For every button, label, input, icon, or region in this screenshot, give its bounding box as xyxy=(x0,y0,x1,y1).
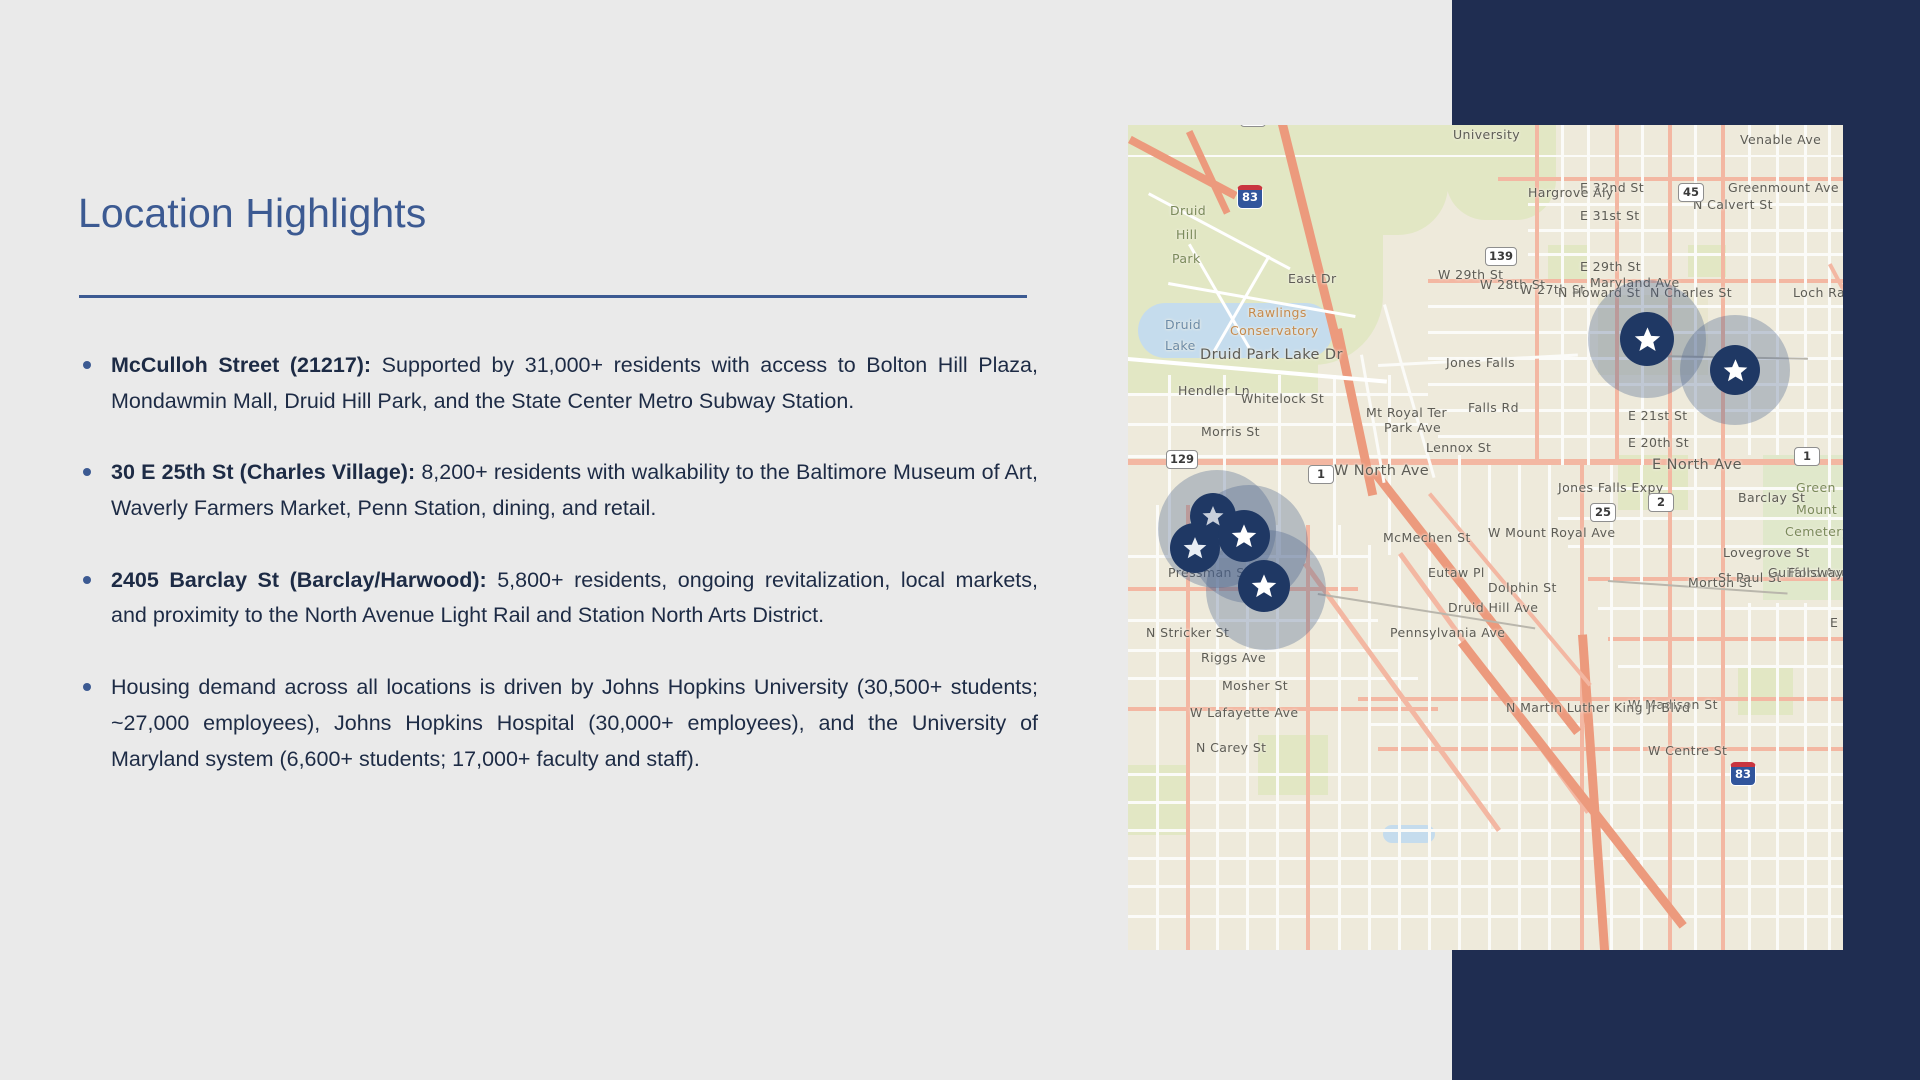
marker-pin-barclay[interactable] xyxy=(1238,560,1290,612)
map-street-label: Rawlings xyxy=(1248,305,1307,320)
map-street-label: Druid xyxy=(1170,203,1206,218)
map-street-label: Eutaw Pl xyxy=(1428,565,1485,580)
map-road xyxy=(1528,203,1843,206)
map-route-shield: 83 xyxy=(1237,185,1263,209)
map-road xyxy=(1368,545,1371,950)
bullet-list: McCulloh Street (21217): Supported by 31… xyxy=(78,348,1038,777)
map-street-label: Loch Raven xyxy=(1793,285,1843,300)
marker-pin-mcculloh-b[interactable] xyxy=(1170,523,1220,573)
map-street-label: Lennox St xyxy=(1426,440,1491,455)
map-road xyxy=(1128,801,1843,804)
map-route-shield: 1 xyxy=(1794,447,1820,466)
map-street-label: Green xyxy=(1796,480,1836,495)
bullet-dot-icon xyxy=(83,468,91,476)
map-street-label: N Calvert St xyxy=(1693,197,1773,212)
map-road xyxy=(1608,637,1843,641)
map-road xyxy=(1398,555,1401,950)
content-column: Location Highlights McCulloh Street (212… xyxy=(78,0,1038,1080)
star-icon xyxy=(1722,357,1749,384)
map-street-label: Lovegrove St xyxy=(1723,545,1810,560)
map-street-label: Park xyxy=(1172,251,1201,266)
bullet-dot-icon xyxy=(83,683,91,691)
map-route-shield: 25 xyxy=(1590,503,1616,522)
map-street-label: Whitelock St xyxy=(1241,391,1324,406)
page-title: Location Highlights xyxy=(78,190,426,237)
map-green-patch-4 xyxy=(1128,765,1190,835)
map-road xyxy=(1128,915,1843,918)
map-street-label: E 31st St xyxy=(1580,208,1640,223)
map-street-label: East Dr xyxy=(1288,271,1337,286)
map-street-label: E 29th St xyxy=(1580,259,1641,274)
map-road xyxy=(1128,829,1843,832)
map-street-label: Riggs Ave xyxy=(1201,650,1266,665)
map-street-label: Dolphin St xyxy=(1488,580,1557,595)
star-icon xyxy=(1230,522,1258,550)
map-park-north xyxy=(1328,125,1448,235)
map-green-patch-3 xyxy=(1258,735,1328,795)
map-road-charles xyxy=(1668,125,1672,950)
list-item: 2405 Barclay St (Barclay/Harwood): 5,800… xyxy=(78,563,1038,634)
list-item-body: Housing demand across all locations is d… xyxy=(111,675,1038,770)
map-street-label: Falls Rd xyxy=(1468,400,1519,415)
map-street-label: Jones Falls xyxy=(1446,355,1515,370)
map-street-label: Druid Park Lake Dr xyxy=(1200,347,1343,363)
map-road xyxy=(1694,125,1697,950)
map-road xyxy=(1428,545,1431,950)
map-road xyxy=(1338,525,1341,950)
map-street-label: N Stricker St xyxy=(1146,625,1229,640)
title-divider xyxy=(79,295,1027,298)
bullet-dot-icon xyxy=(83,576,91,584)
map-street-label: University xyxy=(1453,127,1520,142)
map-street-label: N Carey St xyxy=(1196,740,1266,755)
map-canvas: Venable AveUniversityE 32nd StE 31st StE… xyxy=(1128,125,1843,950)
list-item-lead: 30 E 25th St (Charles Village): xyxy=(111,460,415,484)
map-street-label: Mosher St xyxy=(1222,678,1288,693)
map-route-shield: 1 xyxy=(1308,465,1334,484)
map-street-label: E 21st St xyxy=(1628,408,1688,423)
list-item: 30 E 25th St (Charles Village): 8,200+ r… xyxy=(78,455,1038,526)
map-road xyxy=(1368,723,1843,726)
list-item-lead: McCulloh Street (21217): xyxy=(111,353,371,377)
map-street-label: Cemetery xyxy=(1785,524,1843,539)
map-street-label: Greenmount Ave xyxy=(1728,180,1839,195)
star-icon xyxy=(1182,535,1208,561)
map-road xyxy=(1804,603,1807,950)
map-street-label: N Martin Luther King Jr Blvd xyxy=(1506,700,1690,715)
map-street-label: Mt Royal Ter xyxy=(1366,405,1447,420)
map-street-label: Fallsway xyxy=(1788,565,1843,580)
map-road xyxy=(1128,857,1843,860)
map-road xyxy=(1156,505,1159,950)
map-route-shield: 129 xyxy=(1166,450,1198,469)
map-road xyxy=(1776,603,1779,950)
map-street-label: Park Ave xyxy=(1384,420,1441,435)
map-street-label: Venable Ave xyxy=(1740,132,1821,147)
map-street-label: W Mount Royal Ave xyxy=(1488,525,1615,540)
map-street-label: W Lafayette Ave xyxy=(1190,705,1298,720)
marker-pin-25th-street[interactable] xyxy=(1710,345,1760,395)
map-street-label: Lake xyxy=(1165,338,1196,353)
bullet-dot-icon xyxy=(83,361,91,369)
map-street-label: Hendler Ln xyxy=(1178,383,1250,398)
map-street-label: McMechen St xyxy=(1383,530,1471,545)
map-street-label: E North Ave xyxy=(1652,457,1742,473)
map-road xyxy=(1528,229,1843,232)
map-street-label: Morris St xyxy=(1201,424,1260,439)
map-street-label: Jones Falls Expy xyxy=(1558,480,1664,495)
star-icon xyxy=(1250,572,1278,600)
map-route-shield: 2 xyxy=(1648,493,1674,512)
map-street-label: W Centre St xyxy=(1648,743,1727,758)
map-route-shield: 25 xyxy=(1240,125,1266,127)
star-icon xyxy=(1633,325,1662,354)
slide-root: Location Highlights McCulloh Street (212… xyxy=(0,0,1920,1080)
map-road-greenmount xyxy=(1721,125,1725,950)
map-street-label: Hill xyxy=(1176,227,1197,242)
map-road xyxy=(1618,665,1843,668)
marker-pin-mcculloh-c[interactable] xyxy=(1218,510,1270,562)
list-item: Housing demand across all locations is d… xyxy=(78,670,1038,777)
map-road xyxy=(1128,155,1843,157)
map-route-shield: 139 xyxy=(1485,247,1517,266)
location-map[interactable]: Venable AveUniversityE 32nd StE 31st StE… xyxy=(1128,125,1843,950)
list-item-lead: 2405 Barclay St (Barclay/Harwood): xyxy=(111,568,487,592)
map-street-label: Druid xyxy=(1165,317,1201,332)
map-green-patch-5 xyxy=(1738,665,1793,715)
map-street-label: Druid Hill Ave xyxy=(1448,600,1538,615)
map-road xyxy=(1528,253,1843,256)
map-street-label: E 20th St xyxy=(1628,435,1689,450)
map-street-label: Pennsylvania Ave xyxy=(1390,625,1505,640)
map-street-label: Hargrove Aly xyxy=(1528,185,1614,200)
map-route-shield: 83 xyxy=(1730,762,1756,786)
map-road xyxy=(1128,885,1843,888)
map-route-shield: 45 xyxy=(1678,183,1704,202)
list-item: McCulloh Street (21217): Supported by 31… xyxy=(78,348,1038,419)
map-street-label: W North Ave xyxy=(1334,463,1429,479)
marker-pin-charles-village[interactable] xyxy=(1620,312,1674,366)
map-street-label: Conservatory xyxy=(1230,323,1319,338)
map-street-label: Mount xyxy=(1796,502,1837,517)
map-street-label: E Chase St xyxy=(1830,615,1843,630)
